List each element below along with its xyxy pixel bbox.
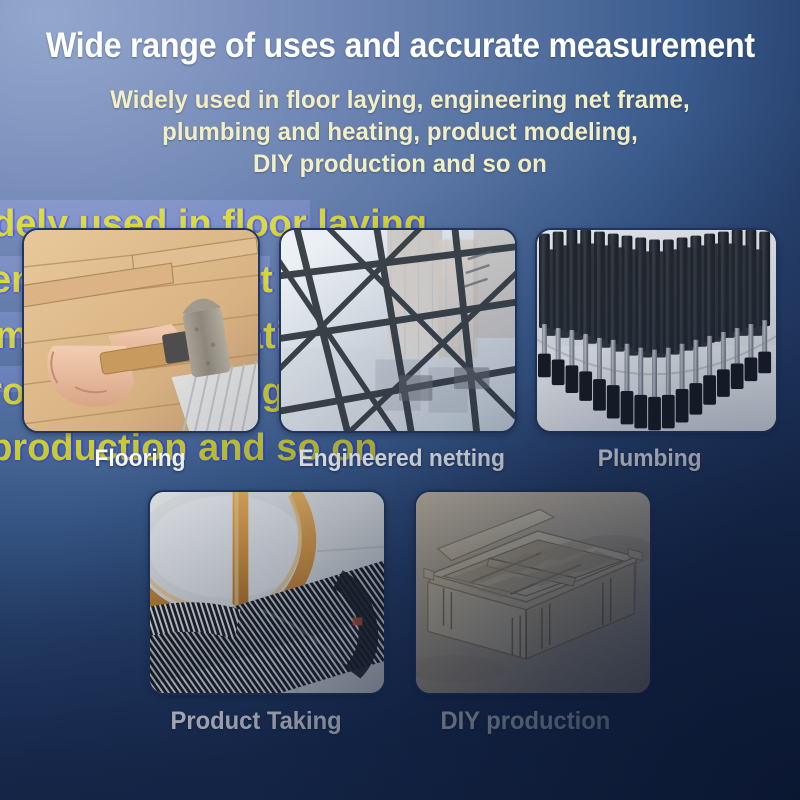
page-title: Wide range of uses and accurate measurem… <box>45 24 754 68</box>
use-case-card-product-taking[interactable]: Product Taking <box>148 490 386 735</box>
product-taking-illustration <box>150 492 384 693</box>
plumbing-photo <box>535 228 778 433</box>
plumbing-illustration <box>537 230 776 431</box>
diy-production-illustration <box>416 492 650 693</box>
engineered-netting-illustration <box>281 230 515 431</box>
ghost-band-1 <box>0 200 310 230</box>
engineered-netting-photo <box>279 228 517 433</box>
headline-container: Wide range of uses and accurate measurem… <box>0 24 800 68</box>
flooring-photo <box>22 228 260 433</box>
diy-production-photo <box>414 490 652 695</box>
use-case-card-diy-production[interactable]: DIY production <box>414 490 652 735</box>
subtitle-container: Widely used in floor laying, engineering… <box>0 84 800 180</box>
promo-poster: Wide range of uses and accurate measurem… <box>0 0 800 800</box>
subtitle-line-1: Widely used in floor laying, engineering… <box>16 84 784 116</box>
card-caption: Plumbing <box>598 445 702 473</box>
card-caption: Product Taking <box>171 707 342 735</box>
use-case-card-plumbing[interactable]: Plumbing <box>535 228 778 473</box>
use-case-card-engineered-netting[interactable]: Engineered netting <box>279 228 517 473</box>
card-caption: Engineered netting <box>298 445 504 473</box>
subtitle-line-3: DIY production and so on <box>16 148 784 180</box>
card-caption: DIY production <box>440 707 610 735</box>
use-case-row-bottom: Product Taking <box>148 490 652 735</box>
flooring-illustration <box>24 230 258 431</box>
product-taking-photo <box>148 490 386 695</box>
use-case-card-flooring[interactable]: Flooring <box>22 228 260 473</box>
card-caption: Flooring <box>94 445 185 473</box>
use-case-row-top: Flooring <box>22 228 778 473</box>
subtitle-line-2: plumbing and heating, product modeling, <box>16 116 784 148</box>
